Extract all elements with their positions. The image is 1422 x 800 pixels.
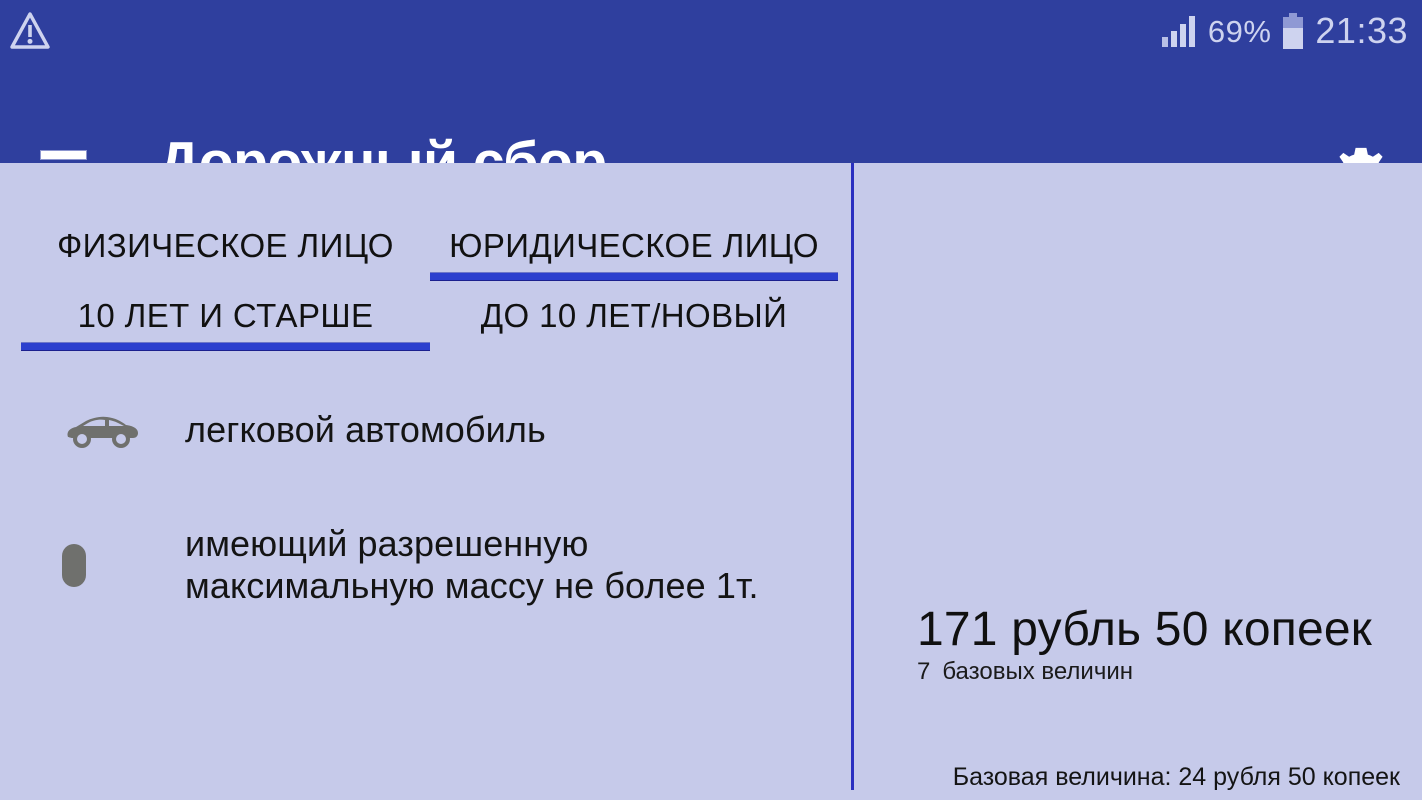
- vehicle-mass-line-1: имеющий разрешенную: [185, 523, 759, 565]
- tab-under-ten-years-new-label: ДО 10 ЛЕТ/НОВЫЙ: [481, 297, 788, 335]
- tab-legal-entity[interactable]: ЮРИДИЧЕСКОЕ ЛИЦО: [430, 218, 838, 273]
- base-value-note: Базовая величина: 24 рубля 50 копеек: [953, 765, 1400, 790]
- tab-legal-entity-label: ЮРИДИЧЕСКОЕ ЛИЦО: [449, 227, 819, 265]
- vertical-divider: [851, 163, 854, 790]
- result-units-label: базовых величин: [942, 658, 1133, 685]
- content-area: ФИЗИЧЕСКОЕ ЛИЦО ЮРИДИЧЕСКОЕ ЛИЦО 10 ЛЕТ …: [0, 163, 1422, 800]
- capsule-shape: [62, 544, 86, 587]
- status-bar: 69% 21:33: [0, 0, 1422, 62]
- vehicle-mass-label: имеющий разрешенную максимальную массу н…: [185, 523, 759, 608]
- warning-triangle-icon: [10, 12, 50, 50]
- car-side-icon: [0, 410, 185, 450]
- tabs-payer-type: ФИЗИЧЕСКОЕ ЛИЦО ЮРИДИЧЕСКОЕ ЛИЦО: [0, 218, 851, 288]
- result-units: 7базовых величин: [917, 660, 1133, 684]
- tab-under-ten-years-new[interactable]: ДО 10 ЛЕТ/НОВЫЙ: [430, 288, 838, 343]
- tab-individual-label: ФИЗИЧЕСКОЕ ЛИЦО: [57, 227, 394, 265]
- vehicle-row-type[interactable]: легковой автомобиль: [0, 400, 851, 460]
- signal-bars-icon: [1162, 15, 1198, 47]
- status-bar-right: 69% 21:33: [1162, 13, 1408, 49]
- status-clock: 21:33: [1315, 13, 1408, 49]
- battery-percent-label: 69%: [1208, 16, 1272, 47]
- tab-individual[interactable]: ФИЗИЧЕСКОЕ ЛИЦО: [21, 218, 430, 273]
- result-amount: 171 рубль 50 копеек: [917, 606, 1372, 654]
- battery-icon: [1281, 13, 1305, 49]
- hamburger-bar-1: [40, 150, 87, 160]
- result-units-value: 7: [917, 658, 930, 685]
- tab-ten-years-and-older[interactable]: 10 ЛЕТ И СТАРШЕ: [21, 288, 430, 343]
- tab-ten-years-and-older-label: 10 ЛЕТ И СТАРШЕ: [78, 297, 374, 335]
- app-bar: Дорожный сбор: [0, 62, 1422, 163]
- vehicle-row-mass[interactable]: имеющий разрешенную максимальную массу н…: [0, 515, 851, 615]
- app-root: 69% 21:33 Дорожный сбор: [0, 0, 1422, 800]
- vehicle-mass-line-2: максимальную массу не более 1т.: [185, 565, 759, 607]
- capsule-icon: [0, 544, 185, 587]
- status-bar-left: [10, 12, 50, 50]
- tabs-vehicle-age: 10 ЛЕТ И СТАРШЕ ДО 10 ЛЕТ/НОВЫЙ: [0, 288, 851, 358]
- vehicle-type-label: легковой автомобиль: [185, 409, 546, 451]
